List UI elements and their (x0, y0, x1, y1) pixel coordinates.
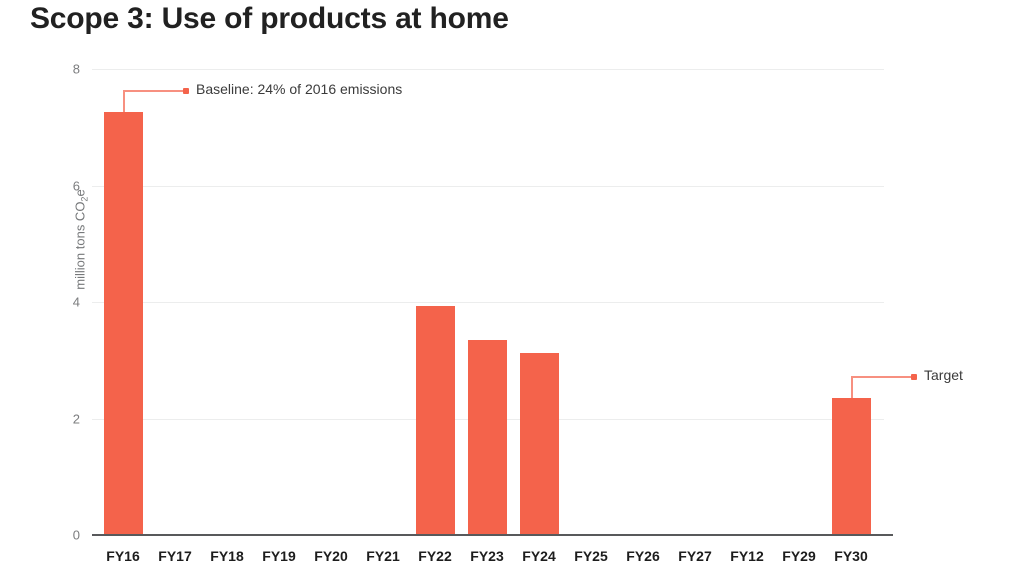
y-tick-label-6: 6 (54, 178, 80, 193)
x-tick-label-FY22: FY22 (405, 548, 465, 564)
y-tick-label-8: 8 (54, 62, 80, 77)
y-axis-ticks: 02468 (48, 69, 80, 535)
y-axis-title-subscript: 2 (80, 197, 90, 202)
chart-title: Scope 3: Use of products at home (30, 2, 509, 36)
gridline-8 (92, 69, 884, 70)
annotation-dot-target (911, 374, 917, 380)
x-tick-label-FY18: FY18 (197, 548, 257, 564)
plot-area (92, 69, 884, 535)
bar-FY30[interactable] (832, 398, 871, 535)
y-tick-label-4: 4 (54, 295, 80, 310)
gridline-4 (92, 302, 884, 303)
x-tick-label-FY23: FY23 (457, 548, 517, 564)
annotation-leader-vertical-target (851, 376, 853, 398)
x-tick-label-FY17: FY17 (145, 548, 205, 564)
x-axis-line (92, 534, 893, 536)
annotation-leader-horizontal-baseline (123, 90, 186, 92)
x-tick-label-FY24: FY24 (509, 548, 569, 564)
bar-FY24[interactable] (520, 353, 559, 535)
x-tick-label-FY12: FY12 (717, 548, 777, 564)
x-tick-label-FY30: FY30 (821, 548, 881, 564)
x-tick-label-FY21: FY21 (353, 548, 413, 564)
bar-FY16[interactable] (104, 112, 143, 535)
x-tick-label-FY29: FY29 (769, 548, 829, 564)
bar-FY22[interactable] (416, 306, 455, 535)
annotation-leader-vertical-baseline (123, 90, 125, 112)
x-tick-label-FY27: FY27 (665, 548, 725, 564)
x-tick-label-FY19: FY19 (249, 548, 309, 564)
annotation-label-baseline: Baseline: 24% of 2016 emissions (196, 81, 402, 97)
annotation-label-target: Target (924, 367, 963, 383)
y-tick-label-0: 0 (54, 528, 80, 543)
annotation-leader-horizontal-target (851, 376, 914, 378)
annotation-dot-baseline (183, 88, 189, 94)
x-tick-label-FY26: FY26 (613, 548, 673, 564)
x-tick-label-FY20: FY20 (301, 548, 361, 564)
gridline-6 (92, 186, 884, 187)
x-tick-label-FY25: FY25 (561, 548, 621, 564)
bar-FY23[interactable] (468, 340, 507, 535)
x-tick-label-FY16: FY16 (93, 548, 153, 564)
y-tick-label-2: 2 (54, 411, 80, 426)
